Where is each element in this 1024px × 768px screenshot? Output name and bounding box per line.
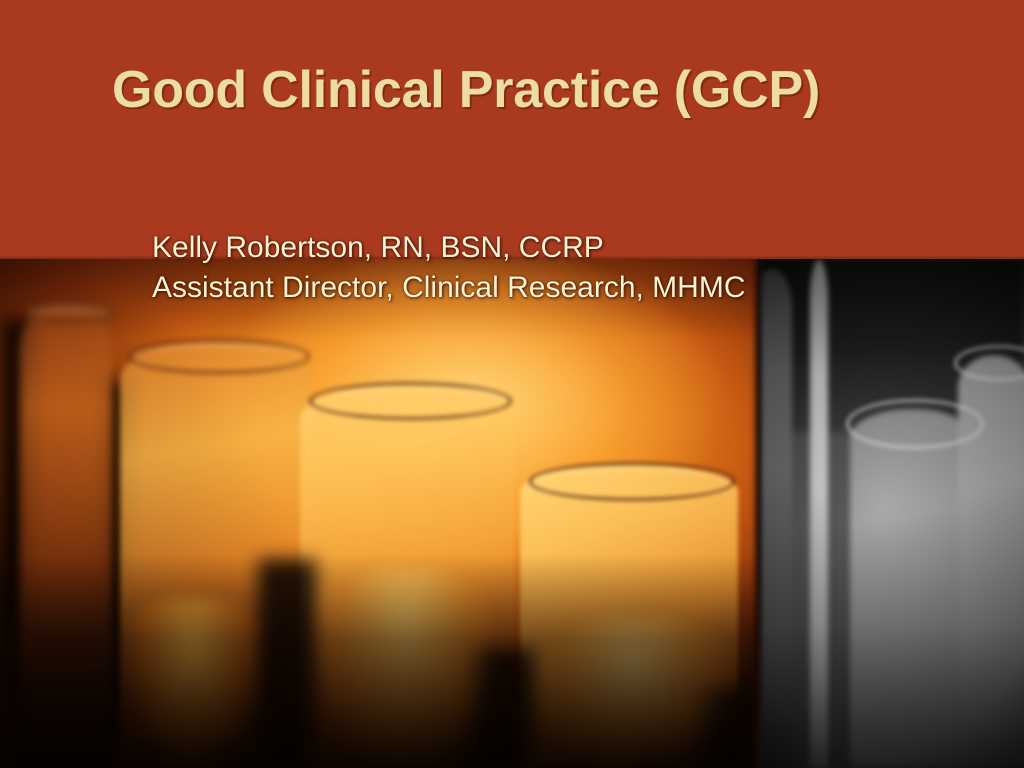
test-tubes-grayscale-photo xyxy=(758,259,1024,768)
test-tubes-amber-photo xyxy=(0,259,758,768)
title-banner xyxy=(0,0,1024,259)
grayscale-vignette xyxy=(758,259,1024,768)
presenter-info: Kelly Robertson, RN, BSN, CCRP Assistant… xyxy=(152,228,972,308)
amber-photo-shadow-base xyxy=(0,554,758,768)
photo-panel-divider xyxy=(752,259,762,768)
slide-title: Good Clinical Practice (GCP) xyxy=(112,62,972,118)
presentation-slide: Good Clinical Practice (GCP) Kelly Rober… xyxy=(0,0,1024,768)
presenter-name-line: Kelly Robertson, RN, BSN, CCRP xyxy=(152,228,972,268)
presenter-role-line: Assistant Director, Clinical Research, M… xyxy=(152,268,972,308)
slide-background-imagery xyxy=(0,259,1024,768)
